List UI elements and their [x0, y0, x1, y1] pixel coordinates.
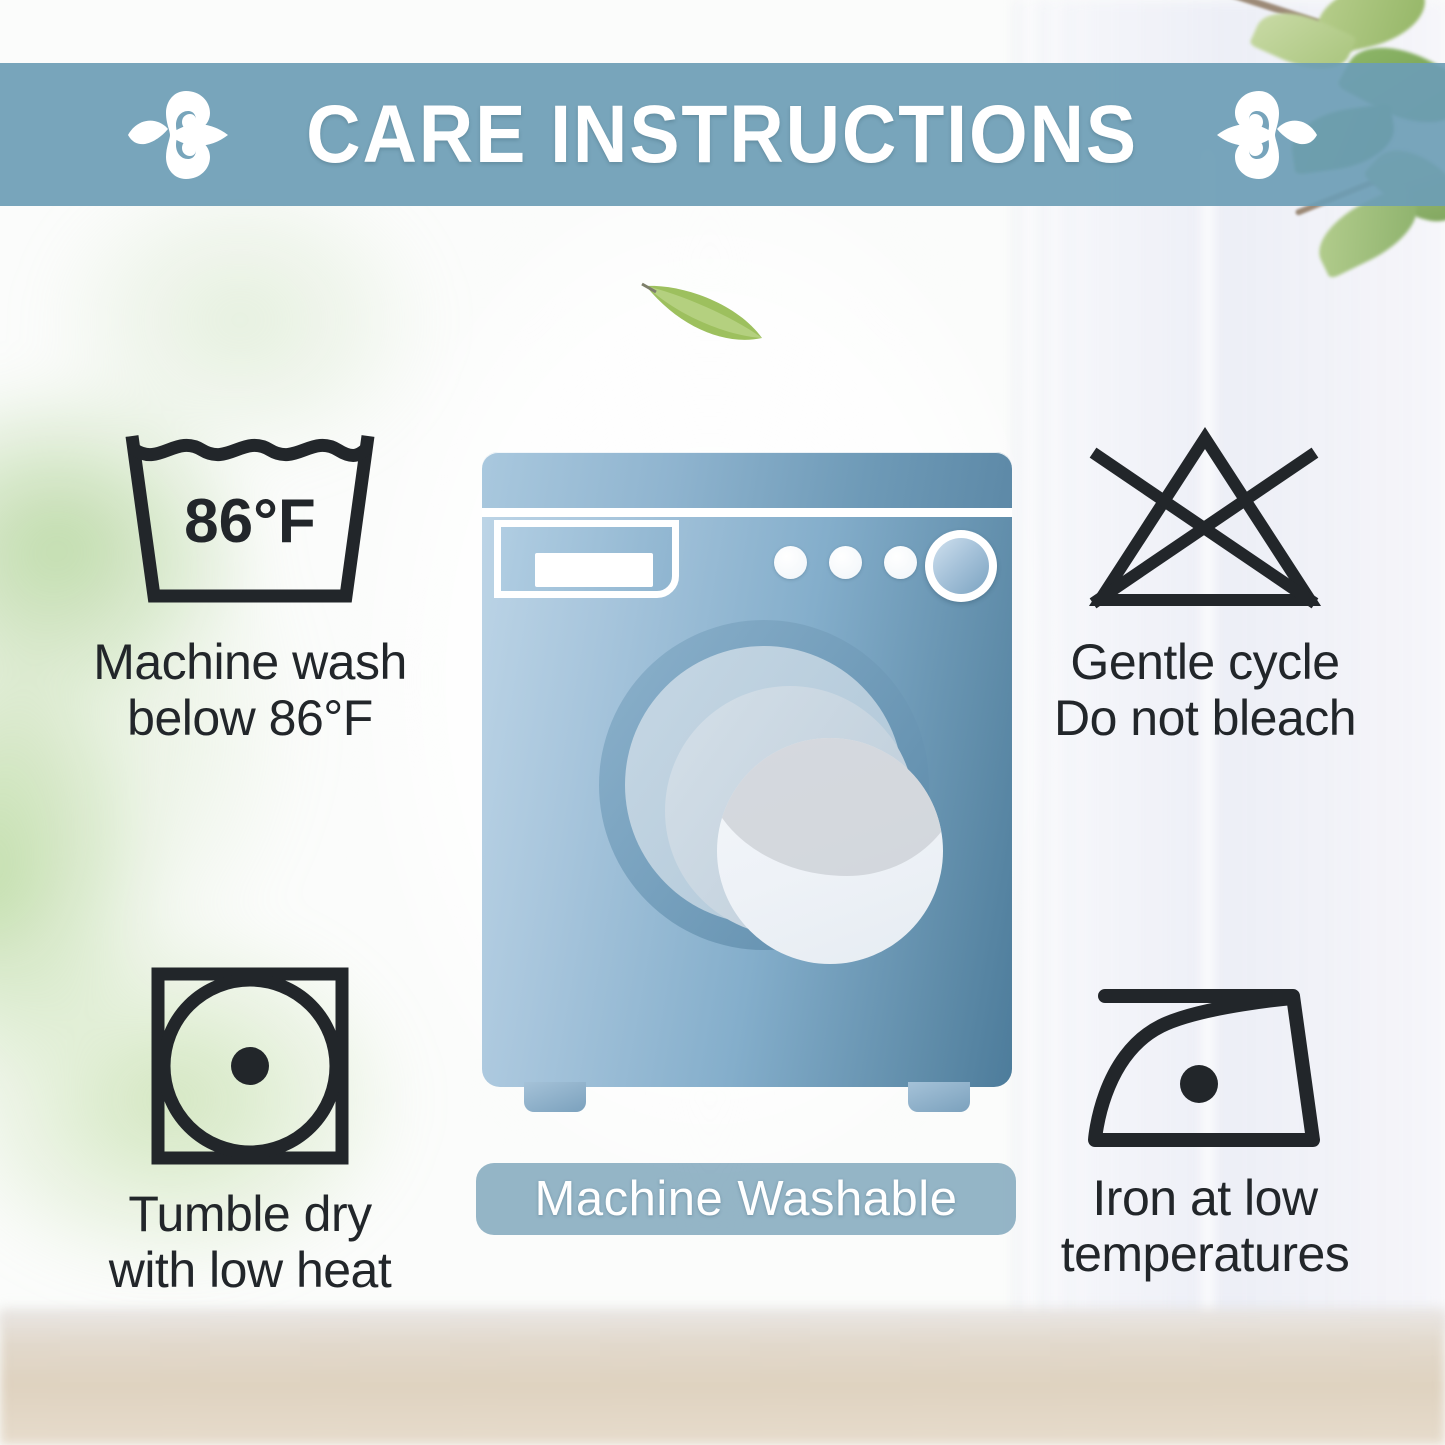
symbol-caption: Gentle cycle Do not bleach	[1054, 634, 1356, 746]
detergent-drawer-slot	[535, 553, 653, 587]
page-title: CARE INSTRUCTIONS	[307, 88, 1139, 182]
fleur-de-lis-icon	[1201, 87, 1321, 183]
iron-low-temperature-icon	[1075, 960, 1335, 1156]
symbol-iron-low: Iron at low temperatures	[985, 960, 1425, 1282]
symbol-caption: Machine wash below 86°F	[93, 634, 407, 746]
machine-door-ring-outer	[625, 646, 903, 924]
machine-foot	[908, 1082, 970, 1112]
badge-label: Machine Washable	[535, 1171, 958, 1227]
program-dial-knob	[925, 530, 997, 602]
detergent-drawer	[494, 520, 679, 598]
header-banner: CARE INSTRUCTIONS	[0, 63, 1445, 206]
care-instructions-infographic: CARE INSTRUCTIONS 86°F Machine wash belo…	[0, 0, 1445, 1445]
machine-lid-gap	[482, 508, 1012, 517]
green-leaf-icon	[640, 272, 768, 350]
washing-machine-illustration	[482, 452, 1012, 1112]
wash-tub-icon: 86°F	[110, 420, 390, 620]
symbol-do-not-bleach: Gentle cycle Do not bleach	[985, 420, 1425, 746]
wash-temperature-value: 86°F	[184, 487, 316, 556]
indicator-light	[829, 546, 862, 579]
symbol-tumble-dry-low: Tumble dry with low heat	[30, 960, 470, 1298]
indicator-light	[884, 546, 917, 579]
machine-washable-badge: Machine Washable	[476, 1163, 1016, 1235]
symbol-caption: Tumble dry with low heat	[109, 1186, 392, 1298]
crossed-triangle-no-bleach-icon	[1070, 420, 1340, 620]
machine-door-ring-inner	[665, 686, 915, 936]
indicator-lights	[774, 546, 917, 579]
machine-door	[599, 620, 929, 950]
machine-door-glass	[717, 738, 943, 964]
program-dial-face	[933, 538, 989, 594]
symbol-machine-wash: 86°F Machine wash below 86°F	[20, 420, 480, 746]
fleur-de-lis-icon	[124, 87, 244, 183]
tumble-dry-low-heat-icon	[144, 960, 356, 1172]
indicator-light	[774, 546, 807, 579]
machine-lid	[482, 452, 1012, 508]
machine-foot	[524, 1082, 586, 1112]
wood-surface	[0, 1310, 1445, 1445]
machine-door-glass-shading	[717, 738, 943, 876]
symbol-caption: Iron at low temperatures	[1061, 1170, 1350, 1282]
